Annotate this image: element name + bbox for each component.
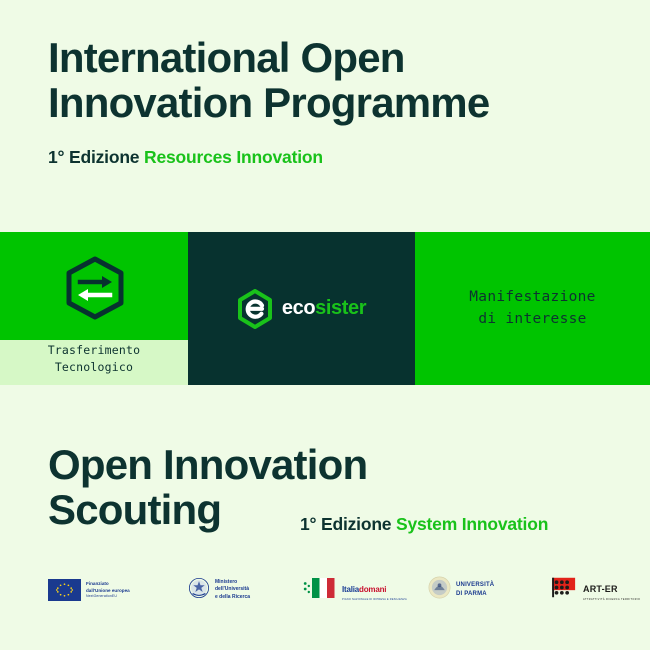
ministero-line-2: dell'Università [215, 586, 249, 592]
ministero-line-3: e della Ricerca [215, 594, 250, 600]
art-er-text: ART-ER ATTRATTIVITÀ RICERCA TERRITORIO [583, 579, 640, 602]
call-to-action-line-2: di interesse [469, 309, 595, 331]
eu-funding-text: Finanziato dall'Unione europea NextGener… [86, 581, 130, 599]
unipr-line-1: UNIVERSITÀ [456, 582, 494, 588]
art-er-logo: ART-ER ATTRATTIVITÀ RICERCA TERRITORIO [551, 576, 640, 604]
ecosister-hexagon-e-icon [237, 289, 273, 329]
call-to-action-line-1: Manifestazione [469, 287, 595, 309]
bottom-block: Open Innovation Scouting 1° Edizione Sys… [48, 443, 628, 532]
technology-transfer-cell: Trasferimento Tecnologico [0, 232, 188, 385]
ecosister-wordmark-primary: eco [282, 297, 315, 319]
banner-strip: Trasferimento Tecnologico ecosister [0, 232, 650, 385]
eu-funding-line-1: Finanziato [86, 581, 109, 586]
italiadomani-subtitle: PIANO NAZIONALE DI RIPRESA E RESILIENZA [342, 598, 407, 601]
italiadomani-text: Italiadomani PIANO NAZIONALE DI RIPRESA … [342, 579, 407, 601]
unipr-crest-icon [428, 576, 451, 604]
header-edition: 1° Edizione Resources Innovation [48, 147, 618, 168]
bottom-edition-prefix: 1° Edizione [300, 514, 391, 534]
italiadomani-word-dark: Italia [342, 585, 359, 594]
italiadomani-word-red: domani [359, 585, 386, 594]
eu-funding-logo: Finanziato dall'Unione europea NextGener… [48, 579, 130, 601]
poster-root: International Open Innovation Programme … [0, 0, 650, 650]
bottom-edition-accent: System Innovation [396, 514, 548, 534]
ecosister-wordmark-secondary: sister [315, 297, 366, 319]
ecosister-logo: ecosister [237, 289, 366, 329]
header-block: International Open Innovation Programme … [48, 36, 618, 168]
bottom-title-line-1: Open Innovation [48, 443, 628, 488]
italian-tricolor-flag-icon [303, 576, 337, 605]
page-title: International Open Innovation Programme [48, 36, 618, 125]
header-edition-prefix: 1° Edizione [48, 147, 139, 167]
hexagon-transfer-arrows-icon [60, 254, 130, 324]
eu-funding-line-2: dall'Unione europea [86, 588, 130, 593]
unipr-text: UNIVERSITÀ DI PARMA [456, 581, 494, 599]
italian-republic-emblem-icon [188, 576, 210, 605]
ministero-text: Ministero dell'Università e della Ricerc… [215, 579, 250, 601]
footer-logos: Finanziato dall'Unione europea NextGener… [0, 565, 650, 615]
ecosister-wordmark: ecosister [282, 297, 366, 320]
unipr-line-2: DI PARMA [456, 591, 487, 597]
art-er-word: ART-ER [583, 584, 618, 594]
art-er-mark-icon [551, 576, 578, 604]
technology-transfer-label-line-1: Trasferimento [0, 342, 188, 359]
ministero-universita-ricerca-logo: Ministero dell'Università e della Ricerc… [188, 576, 250, 605]
page-title-line-1: International Open [48, 36, 618, 81]
italiadomani-logo: Italiadomani PIANO NAZIONALE DI RIPRESA … [303, 576, 407, 605]
eu-funding-line-3: NextGenerationEU [86, 594, 130, 599]
page-title-line-2: Innovation Programme [48, 81, 618, 126]
technology-transfer-label: Trasferimento Tecnologico [0, 342, 188, 375]
header-edition-accent: Resources Innovation [144, 147, 323, 167]
call-to-action-text: Manifestazione di interesse [415, 232, 650, 385]
eu-flag-icon [48, 579, 81, 601]
technology-transfer-label-line-2: Tecnologico [0, 359, 188, 376]
universita-di-parma-logo: UNIVERSITÀ DI PARMA [428, 576, 494, 604]
ministero-line-1: Ministero [215, 579, 237, 585]
art-er-subtitle: ATTRATTIVITÀ RICERCA TERRITORIO [583, 598, 640, 601]
brand-panel: ecosister [188, 232, 415, 385]
bottom-edition: 1° Edizione System Innovation [300, 514, 548, 535]
